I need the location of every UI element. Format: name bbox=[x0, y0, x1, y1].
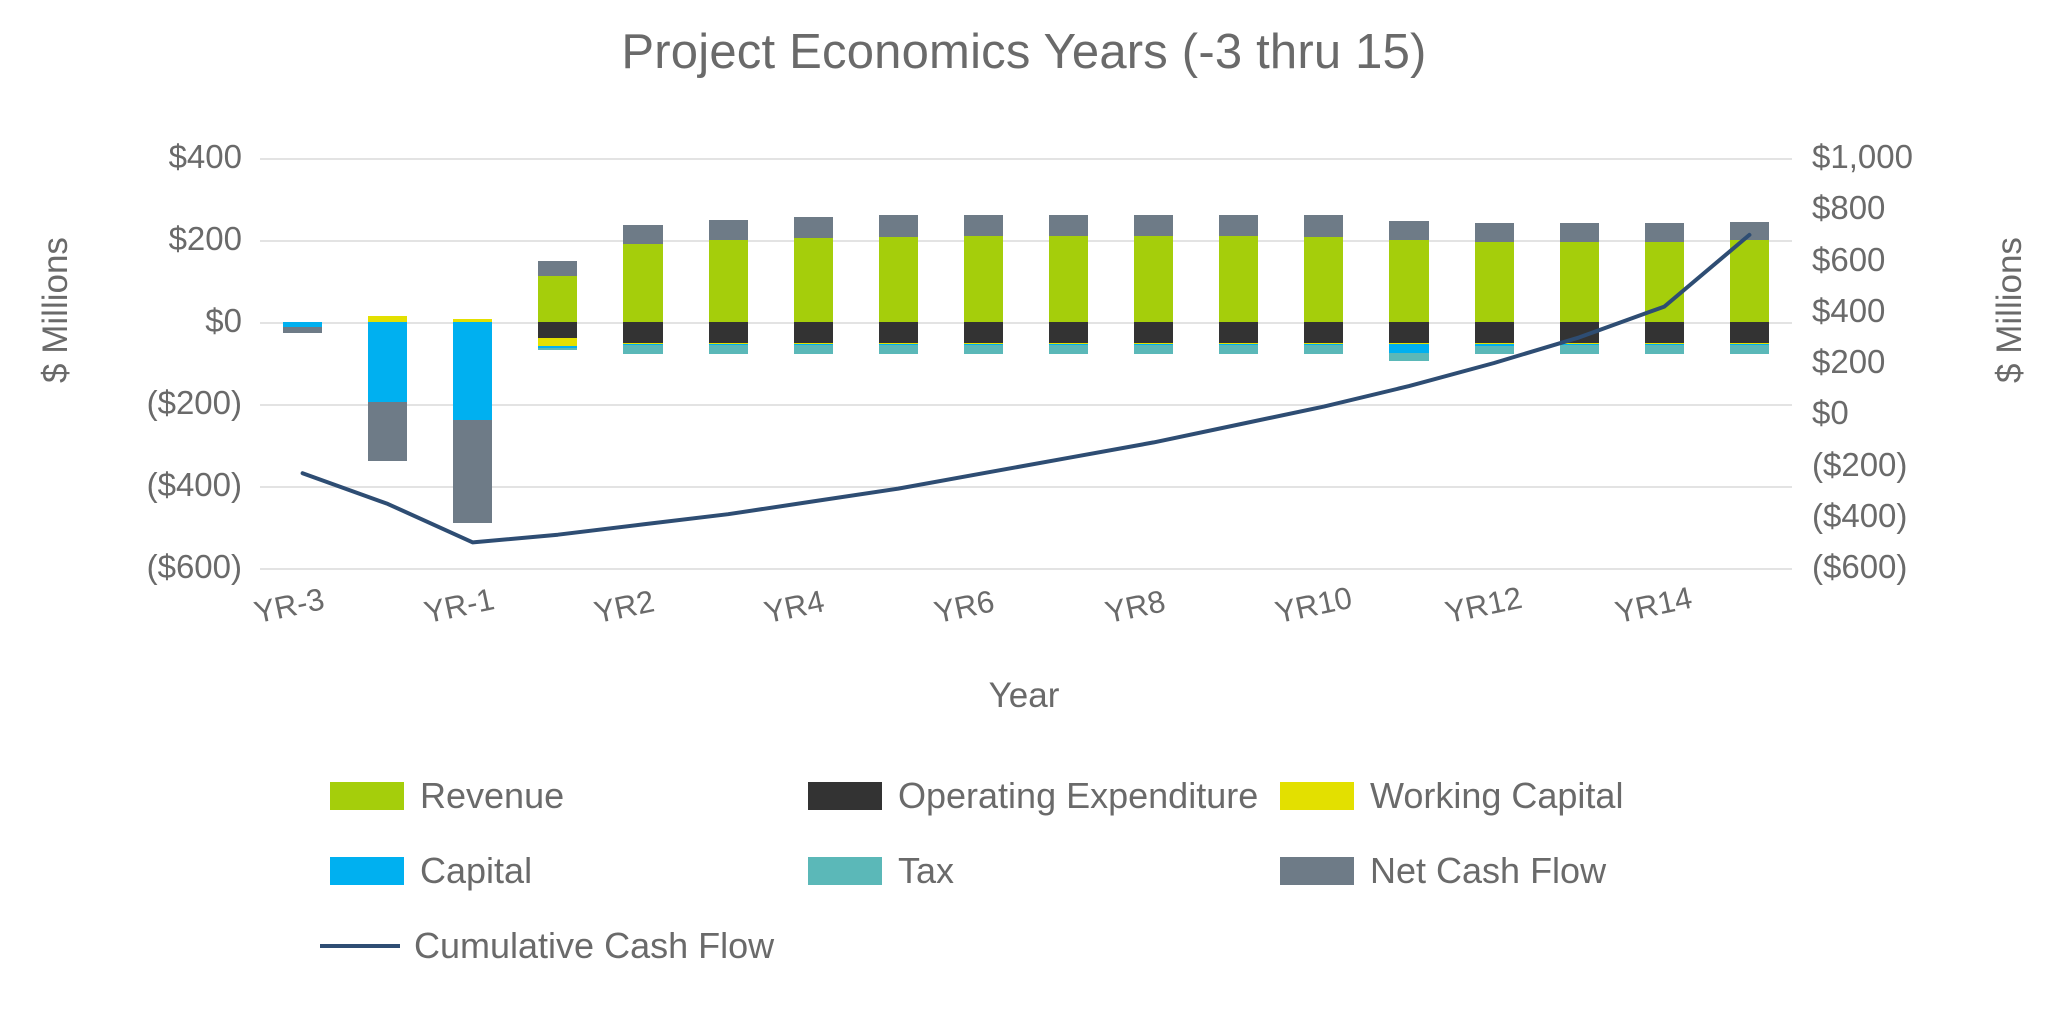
x-tick-label: YR12 bbox=[1442, 580, 1525, 631]
bar-segment bbox=[368, 316, 407, 322]
primary-y-tick-label: ($400) bbox=[22, 468, 242, 501]
bar-column[interactable] bbox=[623, 158, 662, 568]
tax-swatch-icon bbox=[808, 857, 882, 885]
bar-segment bbox=[1560, 345, 1599, 353]
secondary-y-tick-label: ($200) bbox=[1812, 448, 2048, 481]
bar-segment bbox=[538, 322, 577, 338]
bar-segment bbox=[794, 345, 833, 354]
legend-row-3: Cumulative Cash Flow bbox=[330, 928, 1650, 1003]
net-cash-flow-swatch-icon bbox=[1280, 857, 1354, 885]
bar-column[interactable] bbox=[1475, 158, 1514, 568]
legend-item-capital[interactable]: Capital bbox=[330, 853, 532, 889]
bar-segment bbox=[1219, 236, 1258, 322]
bar-column[interactable] bbox=[1560, 158, 1599, 568]
bar-column[interactable] bbox=[1389, 158, 1428, 568]
bar-segment bbox=[1134, 236, 1173, 322]
x-tick-label: YR2 bbox=[591, 583, 657, 631]
bar-column[interactable] bbox=[879, 158, 918, 568]
bar-segment bbox=[1389, 322, 1428, 343]
x-axis-title: Year bbox=[0, 676, 2048, 716]
bar-column[interactable] bbox=[1049, 158, 1088, 568]
bar-column[interactable] bbox=[1219, 158, 1258, 568]
bar-segment bbox=[1475, 322, 1514, 343]
plot-area bbox=[260, 158, 1792, 568]
bar-segment bbox=[1219, 215, 1258, 236]
bar-segment bbox=[368, 322, 407, 402]
gridline bbox=[260, 568, 1792, 570]
bar-segment bbox=[709, 345, 748, 354]
bar-segment bbox=[879, 215, 918, 236]
chart-legend: Revenue Operating Expenditure Working Ca… bbox=[330, 778, 1650, 1003]
x-tick-label: YR10 bbox=[1272, 580, 1355, 631]
secondary-y-tick-label: $400 bbox=[1812, 294, 2048, 327]
bar-segment bbox=[1560, 223, 1599, 242]
legend-item-working-capital[interactable]: Working Capital bbox=[1280, 778, 1623, 814]
bar-segment bbox=[1389, 221, 1428, 240]
legend-label: Tax bbox=[898, 853, 954, 889]
bar-segment bbox=[538, 338, 577, 345]
revenue-swatch-icon bbox=[330, 782, 404, 810]
bar-column[interactable] bbox=[1304, 158, 1343, 568]
bar-segment bbox=[1560, 242, 1599, 322]
primary-y-tick-label: $200 bbox=[22, 222, 242, 255]
bar-column[interactable] bbox=[1645, 158, 1684, 568]
cumulative-cash-flow-line-icon bbox=[320, 944, 400, 948]
bar-segment bbox=[964, 322, 1003, 343]
secondary-y-tick-label: ($600) bbox=[1812, 550, 2048, 583]
bar-segment bbox=[1049, 322, 1088, 343]
bar-segment bbox=[964, 236, 1003, 322]
bar-segment bbox=[1134, 322, 1173, 343]
chart-container: Project Economics Years (-3 thru 15) $ M… bbox=[0, 0, 2048, 1013]
bar-segment bbox=[1645, 242, 1684, 322]
bar-column[interactable] bbox=[964, 158, 1003, 568]
primary-y-tick-label: $400 bbox=[22, 140, 242, 173]
bar-segment bbox=[283, 327, 322, 333]
bar-segment bbox=[1730, 240, 1769, 322]
legend-label: Operating Expenditure bbox=[898, 778, 1258, 814]
legend-row-2: Capital Tax Net Cash Flow bbox=[330, 853, 1650, 928]
bar-segment bbox=[879, 345, 918, 354]
bar-segment bbox=[1304, 322, 1343, 343]
bar-segment bbox=[453, 322, 492, 420]
bar-segment bbox=[1134, 215, 1173, 236]
bar-segment bbox=[794, 322, 833, 343]
bar-segment bbox=[1645, 345, 1684, 353]
secondary-y-tick-label: $800 bbox=[1812, 191, 2048, 224]
primary-y-tick-label: $0 bbox=[22, 304, 242, 337]
legend-item-cumulative-cash-flow[interactable]: Cumulative Cash Flow bbox=[320, 928, 774, 964]
bar-column[interactable] bbox=[1730, 158, 1769, 568]
bar-segment bbox=[368, 402, 407, 461]
bar-segment bbox=[1730, 345, 1769, 353]
legend-label: Working Capital bbox=[1370, 778, 1623, 814]
bar-column[interactable] bbox=[453, 158, 492, 568]
legend-label: Net Cash Flow bbox=[1370, 853, 1606, 889]
bar-segment bbox=[964, 345, 1003, 354]
bar-segment bbox=[1304, 345, 1343, 354]
bar-column[interactable] bbox=[283, 158, 322, 568]
legend-label: Revenue bbox=[420, 778, 564, 814]
bar-column[interactable] bbox=[368, 158, 407, 568]
bar-segment bbox=[623, 225, 662, 244]
bar-segment bbox=[453, 420, 492, 523]
bar-segment bbox=[623, 322, 662, 343]
bar-segment bbox=[709, 322, 748, 343]
bar-segment bbox=[879, 322, 918, 343]
bar-segment bbox=[1475, 223, 1514, 242]
bar-column[interactable] bbox=[709, 158, 748, 568]
bar-column[interactable] bbox=[1134, 158, 1173, 568]
bar-segment bbox=[709, 240, 748, 322]
working-capital-swatch-icon bbox=[1280, 782, 1354, 810]
chart-title: Project Economics Years (-3 thru 15) bbox=[0, 24, 2048, 80]
bar-segment bbox=[1645, 223, 1684, 242]
x-tick-label: YR4 bbox=[761, 583, 827, 631]
bar-segment bbox=[1049, 215, 1088, 236]
secondary-y-tick-label: $0 bbox=[1812, 396, 2048, 429]
bar-segment bbox=[1730, 322, 1769, 343]
legend-item-net-cash-flow[interactable]: Net Cash Flow bbox=[1280, 853, 1606, 889]
x-tick-label: YR8 bbox=[1102, 583, 1168, 631]
bar-segment bbox=[623, 345, 662, 353]
x-tick-label: YR-1 bbox=[421, 581, 498, 631]
legend-label: Cumulative Cash Flow bbox=[414, 928, 774, 964]
x-tick-label: YR14 bbox=[1612, 580, 1695, 631]
bar-segment bbox=[1304, 215, 1343, 236]
bar-segment bbox=[794, 238, 833, 322]
bar-segment bbox=[1219, 345, 1258, 354]
bar-segment bbox=[964, 215, 1003, 236]
bar-segment bbox=[1389, 240, 1428, 322]
x-tick-label: YR6 bbox=[931, 583, 997, 631]
operating-expenditure-swatch-icon bbox=[808, 782, 882, 810]
bar-segment bbox=[623, 244, 662, 322]
secondary-y-tick-label: $1,000 bbox=[1812, 140, 2048, 173]
bar-column[interactable] bbox=[794, 158, 833, 568]
legend-item-operating-expenditure[interactable]: Operating Expenditure bbox=[808, 778, 1258, 814]
bar-segment bbox=[1389, 344, 1428, 353]
legend-label: Capital bbox=[420, 853, 532, 889]
bar-segment bbox=[879, 237, 918, 322]
legend-item-revenue[interactable]: Revenue bbox=[330, 778, 564, 814]
secondary-y-tick-label: $200 bbox=[1812, 345, 2048, 378]
bar-segment bbox=[1560, 322, 1599, 343]
bar-segment bbox=[794, 217, 833, 238]
bar-segment bbox=[1645, 322, 1684, 343]
bar-segment bbox=[1049, 236, 1088, 322]
bar-segment bbox=[538, 261, 577, 276]
bar-segment bbox=[1389, 353, 1428, 361]
legend-item-tax[interactable]: Tax bbox=[808, 853, 954, 889]
bar-segment bbox=[1475, 346, 1514, 354]
bar-segment bbox=[1730, 222, 1769, 240]
legend-row-1: Revenue Operating Expenditure Working Ca… bbox=[330, 778, 1650, 853]
bar-segment bbox=[709, 220, 748, 240]
bar-segment bbox=[538, 276, 577, 322]
bar-segment bbox=[1049, 345, 1088, 354]
bar-segment bbox=[1134, 345, 1173, 354]
primary-y-tick-label: ($200) bbox=[22, 386, 242, 419]
bar-column[interactable] bbox=[538, 158, 577, 568]
x-tick-label: YR-3 bbox=[251, 581, 328, 631]
bar-segment bbox=[1304, 237, 1343, 322]
primary-y-tick-label: ($600) bbox=[22, 550, 242, 583]
bar-segment bbox=[453, 319, 492, 322]
bar-segment bbox=[1475, 242, 1514, 322]
secondary-y-tick-label: ($400) bbox=[1812, 499, 2048, 532]
bar-segment bbox=[538, 348, 577, 350]
secondary-y-tick-label: $600 bbox=[1812, 243, 2048, 276]
capital-swatch-icon bbox=[330, 857, 404, 885]
bar-segment bbox=[1219, 322, 1258, 343]
